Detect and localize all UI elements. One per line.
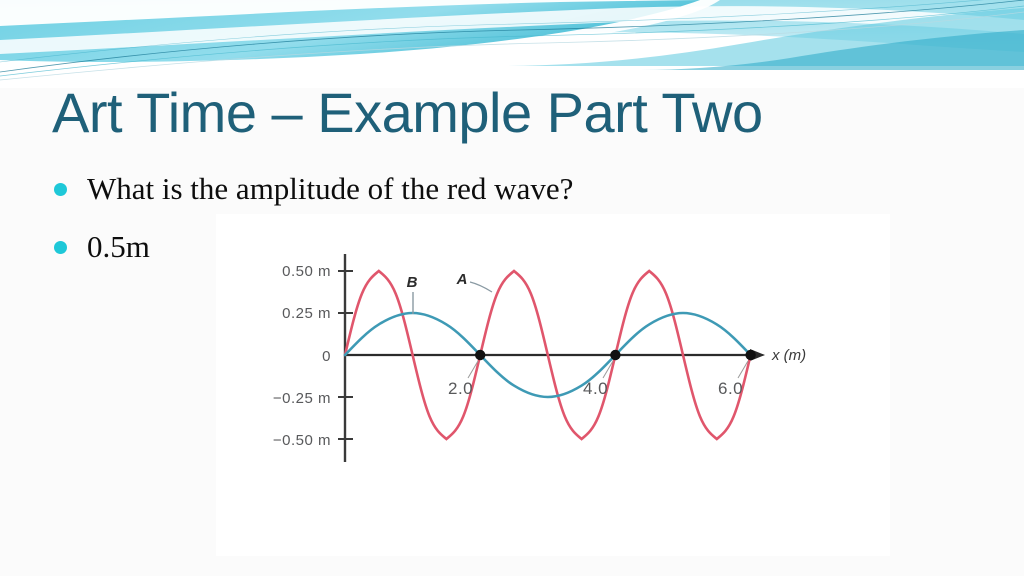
- wave-chart: 0.50 m 0.25 m 0 −0.25 m −0.50 m 2.0 4.0 …: [216, 214, 890, 556]
- list-item-label: 0.5m: [87, 226, 150, 268]
- y-tick-label: 0: [322, 348, 331, 365]
- x-tick-label: 4.0: [583, 379, 608, 398]
- y-tick-label: 0.50 m: [282, 263, 331, 280]
- y-tick-label: 0.25 m: [282, 305, 331, 322]
- point-marker: [745, 350, 755, 360]
- x-tick-label: 2.0: [448, 379, 473, 398]
- header-banner-graphic: [0, 0, 1024, 88]
- bullet-marker-icon: [54, 241, 67, 254]
- list-item-label: What is the amplitude of the red wave?: [87, 168, 573, 210]
- page-title: Art Time – Example Part Two: [52, 78, 952, 148]
- point-marker: [610, 350, 620, 360]
- figure-panel: 0.50 m 0.25 m 0 −0.25 m −0.50 m 2.0 4.0 …: [216, 214, 890, 556]
- x-tick-label: 6.0: [718, 379, 743, 398]
- curve-b-label: B: [407, 274, 418, 291]
- bullet-marker-icon: [54, 183, 67, 196]
- x-axis-title: x (m): [771, 347, 806, 364]
- curve-a-label: A: [456, 271, 468, 288]
- point-marker: [475, 350, 485, 360]
- y-tick-label: −0.25 m: [273, 390, 331, 407]
- header-banner: [0, 0, 1024, 88]
- y-tick-label: −0.50 m: [273, 432, 331, 449]
- list-item: What is the amplitude of the red wave?: [54, 168, 914, 210]
